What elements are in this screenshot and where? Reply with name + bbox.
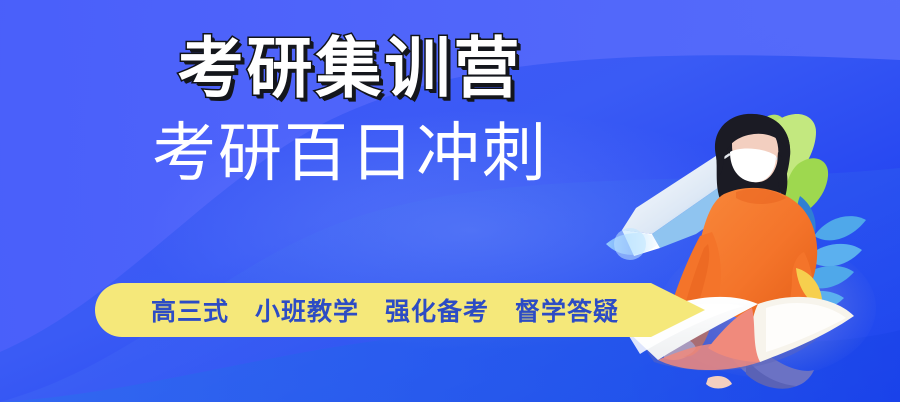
feature-item-0: 高三式 [151, 292, 229, 328]
feature-ribbon: 高三式 小班教学 强化备考 督学答疑 [95, 283, 705, 337]
page-title: 考研集训营 [0, 34, 700, 103]
feature-item-3: 督学答疑 [515, 292, 619, 328]
headline-block: 考研集训营 考研百日冲刺 [0, 34, 700, 188]
feature-item-1: 小班教学 [255, 292, 359, 328]
feature-item-2: 强化备考 [385, 292, 489, 328]
foot-right [706, 376, 732, 389]
page-subtitle: 考研百日冲刺 [0, 121, 700, 188]
promo-banner: 考研集训营 考研百日冲刺 高三式 小班教学 强化备考 督学答疑 [0, 0, 900, 402]
feature-list: 高三式 小班教学 强化备考 督学答疑 [95, 283, 675, 337]
